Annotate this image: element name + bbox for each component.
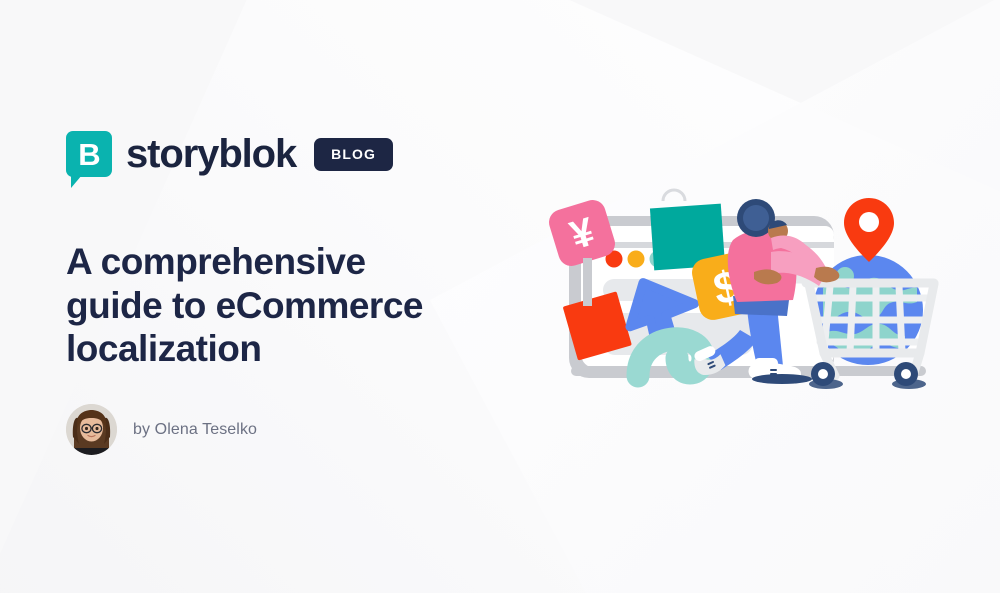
- storyblok-logo-icon: B: [66, 131, 112, 177]
- blog-hero-banner: B storyblok BLOG A comprehensive guide t…: [0, 0, 1000, 593]
- shopping-cart-grid: [812, 286, 929, 352]
- ground-line: [571, 366, 926, 376]
- yen-card-stem: [583, 258, 592, 306]
- byline: by Olena Teselko: [66, 404, 257, 455]
- avatar: [66, 404, 117, 455]
- storyblok-wordmark: storyblok: [126, 134, 296, 174]
- blog-badge[interactable]: BLOG: [314, 138, 393, 171]
- brand-row: B storyblok BLOG: [66, 131, 393, 177]
- storyblok-logo[interactable]: B storyblok: [66, 131, 296, 177]
- hero-text-column: B storyblok BLOG A comprehensive guide t…: [66, 0, 506, 593]
- logo-letter: B: [66, 131, 112, 177]
- ecommerce-localization-illustration: ¥ $: [535, 180, 955, 410]
- teal-swoosh-shape: [638, 339, 703, 376]
- author-name: by Olena Teselko: [133, 421, 257, 439]
- location-pin-icon: [844, 198, 894, 262]
- page-title: A comprehensive guide to eCommerce local…: [66, 240, 466, 371]
